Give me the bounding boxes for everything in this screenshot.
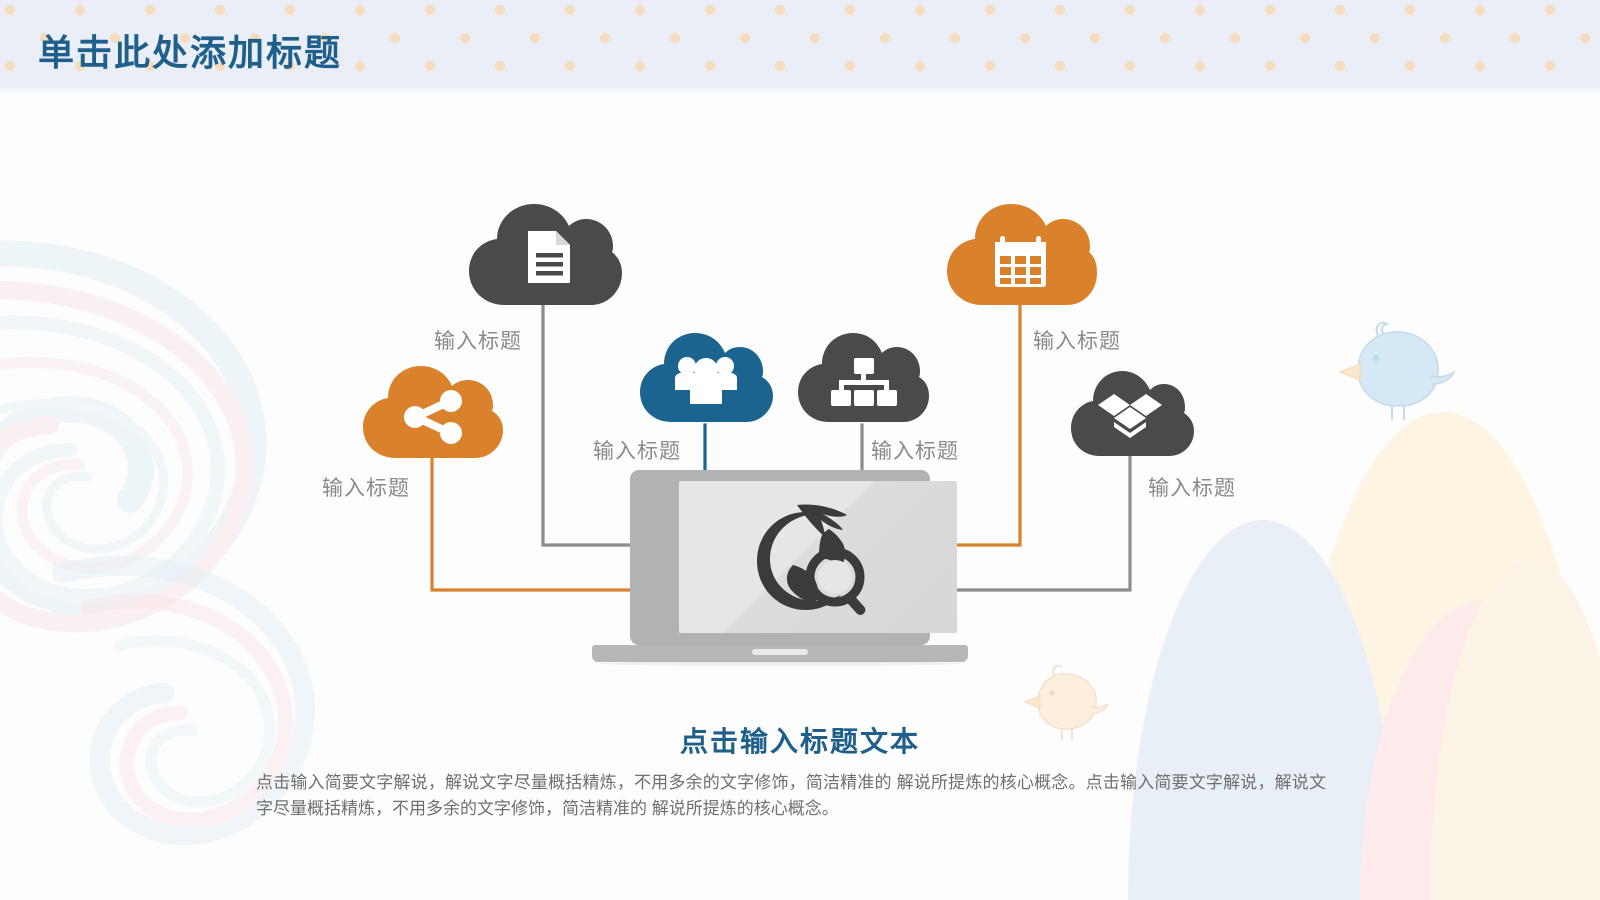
cloud-label-calendar: 输入标题 xyxy=(1033,325,1121,355)
cloud-label-users: 输入标题 xyxy=(593,435,681,465)
laptop-screen xyxy=(679,481,957,633)
cloud-label-dropbox: 输入标题 xyxy=(1148,472,1236,502)
connector-lines xyxy=(0,0,1600,900)
laptop-shadow xyxy=(598,661,962,666)
cloud-node-share[interactable] xyxy=(360,365,505,460)
laptop-trackpad-notch xyxy=(752,649,808,655)
document-icon xyxy=(528,231,570,283)
cloud-node-calendar[interactable] xyxy=(944,203,1099,307)
cloud-node-users[interactable] xyxy=(637,332,775,424)
laptop-illustration[interactable] xyxy=(592,470,968,670)
cloud-shape-document xyxy=(466,203,624,307)
cloud-node-document[interactable] xyxy=(466,203,624,307)
globe-search-icon xyxy=(757,503,879,615)
cloud-label-share: 输入标题 xyxy=(322,472,410,502)
slide-canvas: 单击此处添加标题 xyxy=(0,0,1600,900)
cloud-label-document: 输入标题 xyxy=(434,325,522,355)
footer-body-text: 点击输入简要文字解说，解说文字尽量概括精炼，不用多余的文字修饰，简洁精准的 解说… xyxy=(256,770,1326,822)
laptop-lid xyxy=(630,470,930,645)
cloud-shape-dropbox xyxy=(1068,370,1196,458)
footer-subtitle: 点击输入标题文本 xyxy=(0,720,1600,760)
cloud-node-sitemap[interactable] xyxy=(795,332,931,424)
cloud-shape-share xyxy=(360,365,505,460)
cloud-shape-users xyxy=(637,332,775,424)
cloud-node-dropbox[interactable] xyxy=(1068,370,1196,458)
calendar-icon xyxy=(995,236,1046,287)
cloud-shape-sitemap xyxy=(795,332,931,424)
cloud-shape-calendar xyxy=(944,203,1099,307)
cloud-label-sitemap: 输入标题 xyxy=(871,435,959,465)
